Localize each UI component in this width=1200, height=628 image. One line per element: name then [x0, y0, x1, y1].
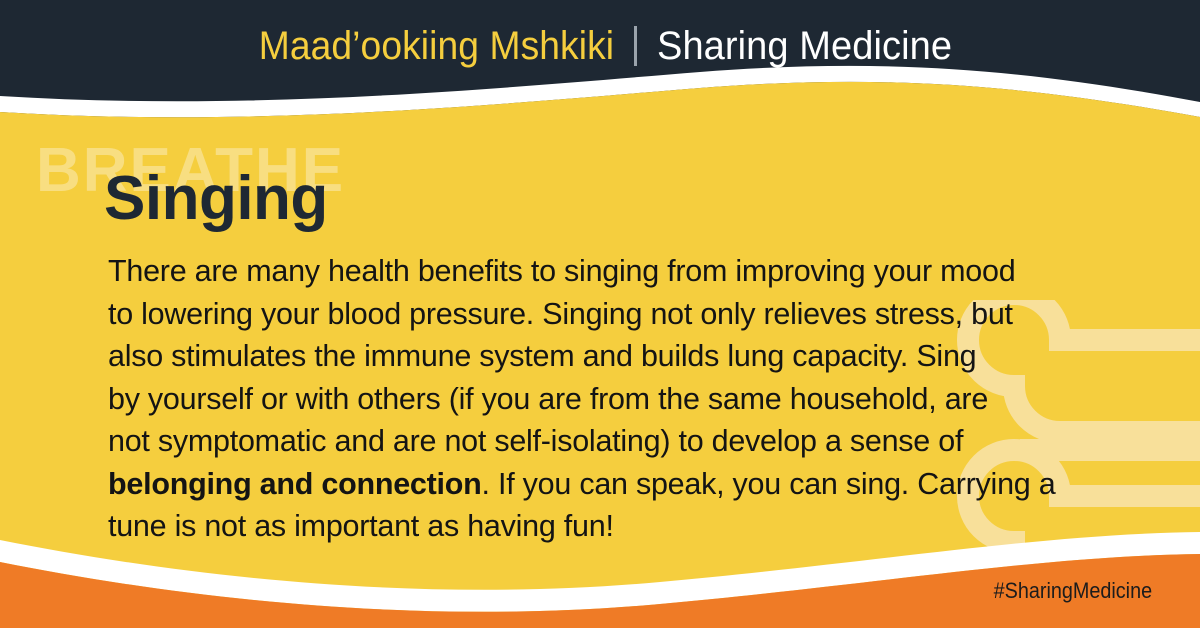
header-title-group: Maad’ookiing Mshkiki Sharing Medicine	[0, 0, 1200, 92]
body-text-run: . If you can speak, you can sing. Carryi…	[482, 467, 1056, 501]
brand-title-native: Maad’ookiing Mshkiki	[259, 24, 614, 69]
body-text-run: not symptomatic and are not self-isolati…	[108, 424, 963, 458]
page-title: Singing	[104, 168, 328, 230]
brand-title-english: Sharing Medicine	[657, 24, 952, 69]
body-paragraph-line: to lowering your blood pressure. Singing…	[108, 293, 1088, 336]
body-paragraph: There are many health benefits to singin…	[108, 250, 1088, 548]
body-paragraph-line: There are many health benefits to singin…	[108, 250, 1088, 293]
body-text-run: to lowering your blood pressure. Singing…	[108, 297, 1013, 331]
body-paragraph-line: not symptomatic and are not self-isolati…	[108, 420, 1088, 463]
footer-wave-divider	[0, 518, 1200, 628]
body-text-run: by yourself or with others (if you are f…	[108, 382, 988, 416]
body-paragraph-line: also stimulates the immune system and bu…	[108, 335, 1088, 378]
body-text-run: There are many health benefits to singin…	[108, 254, 1015, 288]
body-text-run: also stimulates the immune system and bu…	[108, 339, 976, 373]
body-paragraph-line: by yourself or with others (if you are f…	[108, 378, 1088, 421]
body-paragraph-line: belonging and connection. If you can spe…	[108, 463, 1088, 506]
hashtag-label: #SharingMedicine	[994, 578, 1152, 604]
body-text-emphasis: belonging and connection	[108, 467, 482, 501]
poster-canvas: Maad’ookiing Mshkiki Sharing Medicine BR…	[0, 0, 1200, 628]
brand-divider	[634, 26, 637, 66]
